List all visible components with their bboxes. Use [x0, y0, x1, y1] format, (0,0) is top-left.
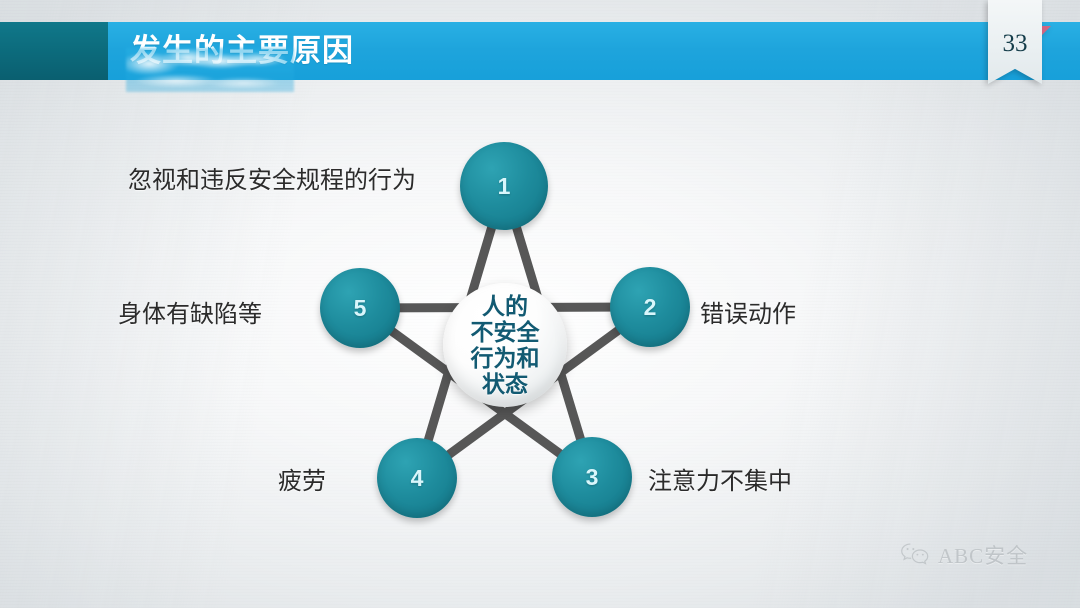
node-number: 5 — [354, 295, 367, 322]
bookmark-accent-triangle-icon — [1042, 26, 1051, 35]
node-number: 4 — [411, 465, 424, 492]
page-title: 发生的主要原因 — [130, 22, 354, 80]
page-number-bookmark: 33 — [988, 0, 1042, 84]
watermark: ABC安全 — [900, 540, 1028, 570]
node-label-1: 忽视和违反安全规程的行为 — [128, 160, 416, 195]
slide: 发生的主要原因 33 人的 不安全 行为和 状态 1 — [0, 0, 1080, 608]
watermark-text: ABC安全 — [938, 540, 1028, 570]
node-number: 3 — [586, 464, 599, 491]
diagram-hub: 人的 不安全 行为和 状态 — [443, 283, 567, 407]
hub-line-4: 状态 — [482, 371, 528, 397]
star-diagram: 人的 不安全 行为和 状态 1 忽视和违反安全规程的行为 2 错误动作 3 注意… — [0, 0, 1080, 608]
hub-line-2: 不安全 — [471, 319, 540, 345]
diagram-node-2[interactable]: 2 — [610, 267, 690, 347]
hub-line-3: 行为和 — [471, 345, 540, 371]
wechat-icon — [900, 542, 930, 568]
node-label-5: 身体有缺陷等 — [118, 294, 262, 329]
node-number: 1 — [498, 173, 511, 200]
hub-line-1: 人的 — [482, 293, 528, 319]
diagram-node-5[interactable]: 5 — [320, 268, 400, 348]
node-label-3: 注意力不集中 — [648, 461, 792, 496]
node-label-2: 错误动作 — [700, 294, 796, 329]
node-label-4: 疲劳 — [278, 461, 326, 496]
diagram-node-4[interactable]: 4 — [377, 438, 457, 518]
diagram-node-3[interactable]: 3 — [552, 437, 632, 517]
slide-header: 发生的主要原因 — [0, 22, 1080, 80]
page-number: 33 — [988, 30, 1042, 58]
diagram-node-1[interactable]: 1 — [460, 142, 548, 230]
node-number: 2 — [644, 294, 657, 321]
header-accent-block — [0, 22, 108, 80]
